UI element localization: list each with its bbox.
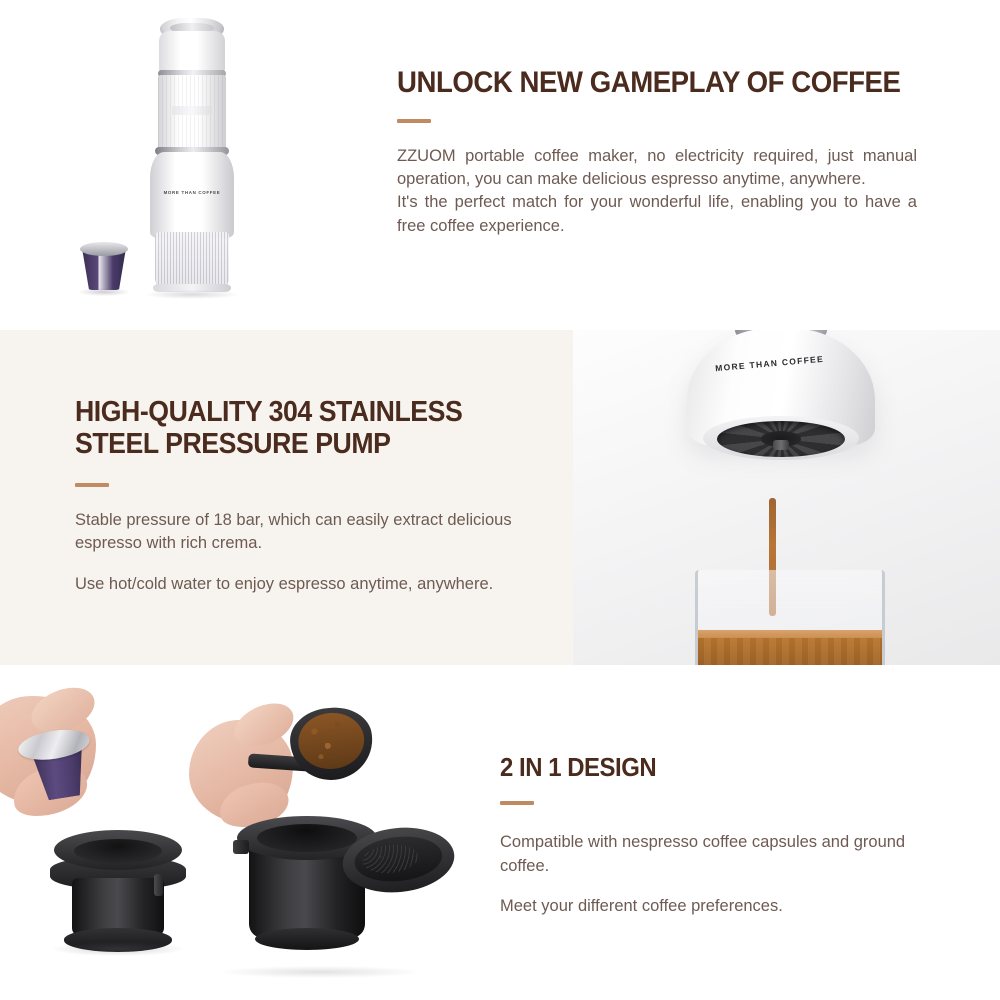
maker-body-bulb <box>150 152 234 238</box>
basket-lid <box>339 822 458 907</box>
section-1-heading: UNLOCK NEW GAMEPLAY OF COFFEE <box>397 66 875 100</box>
dispenser-nozzle <box>773 440 789 450</box>
section-3-divider <box>500 801 534 805</box>
section-2-paragraph-1: Stable pressure of 18 bar, which can eas… <box>75 509 515 556</box>
glass-of-espresso <box>695 570 885 665</box>
maker-neck <box>159 31 225 73</box>
section-2-divider <box>75 483 109 487</box>
espresso-liquid <box>698 638 882 665</box>
basket-base <box>255 928 359 950</box>
section-1-divider <box>397 119 431 123</box>
section-3-heading: 2 IN 1 DESIGN <box>500 753 886 782</box>
basket-left-ear <box>233 840 249 854</box>
section-2-photo-dispensing: MORE THAN COFFEE <box>573 330 1000 665</box>
dispenser-head-illustration: MORE THAN COFFEE <box>663 330 898 518</box>
section-3-copy: 2 IN 1 DESIGN Compatible with nespresso … <box>500 753 920 918</box>
maker-glass-cup <box>155 232 229 290</box>
maker-drop-shadow <box>144 290 240 299</box>
capsule-holder <box>48 830 188 960</box>
section-1-body: ZZUOM portable coffee maker, no electric… <box>397 145 917 239</box>
product-detail-page: MORE THAN COFFEE UNLOCK NEW GAMEPLAY OF … <box>0 0 1000 1000</box>
section-3-paragraph-1: Compatible with nespresso coffee capsule… <box>500 831 920 878</box>
holder-drop-shadow <box>52 942 184 956</box>
section-2-paragraph-2: Use hot/cold water to enjoy espresso any… <box>75 573 515 596</box>
nespresso-capsule-hero <box>78 238 130 294</box>
nespresso-capsule <box>16 724 106 815</box>
maker-logo-plate <box>172 106 212 115</box>
capsule-foil-lid <box>80 242 128 256</box>
product-photo-coffee-maker: MORE THAN COFFEE <box>60 0 360 330</box>
section-2-heading: HIGH-QUALITY 304 STAINLESS STEEL PRESSUR… <box>75 396 480 461</box>
section-two-in-one-design: 2 IN 1 DESIGN Compatible with nespresso … <box>0 665 1000 1000</box>
section-2-body: Stable pressure of 18 bar, which can eas… <box>75 509 515 596</box>
section-3-paragraph-2: Meet your different coffee preferences. <box>500 895 920 918</box>
coffee-scoop <box>243 703 380 794</box>
photo-capsule-insertion <box>0 690 210 980</box>
coffee-maker-illustration: MORE THAN COFFEE <box>138 18 246 290</box>
holder-tab <box>154 874 163 896</box>
section-3-body: Compatible with nespresso coffee capsule… <box>500 831 920 918</box>
section-2-copy-panel: HIGH-QUALITY 304 STAINLESS STEEL PRESSUR… <box>0 330 573 665</box>
section-pressure-pump: HIGH-QUALITY 304 STAINLESS STEEL PRESSUR… <box>0 330 1000 665</box>
product-brand-mark: MORE THAN COFFEE <box>150 190 234 195</box>
capsule-drop-shadow <box>78 288 130 296</box>
holder-opening <box>74 839 162 863</box>
dispenser-grille-icon <box>717 421 845 457</box>
section-unlock-new-gameplay: MORE THAN COFFEE UNLOCK NEW GAMEPLAY OF … <box>0 0 1000 330</box>
photo-b-shadow <box>220 966 420 978</box>
section-1-copy: UNLOCK NEW GAMEPLAY OF COFFEE ZZUOM port… <box>397 66 917 238</box>
photo-ground-coffee-basket <box>195 700 445 980</box>
section-1-paragraph-2: It's the perfect match for your wonderfu… <box>397 191 917 238</box>
section-2-copy: HIGH-QUALITY 304 STAINLESS STEEL PRESSUR… <box>75 396 515 596</box>
section-1-paragraph-1: ZZUOM portable coffee maker, no electric… <box>397 145 917 192</box>
